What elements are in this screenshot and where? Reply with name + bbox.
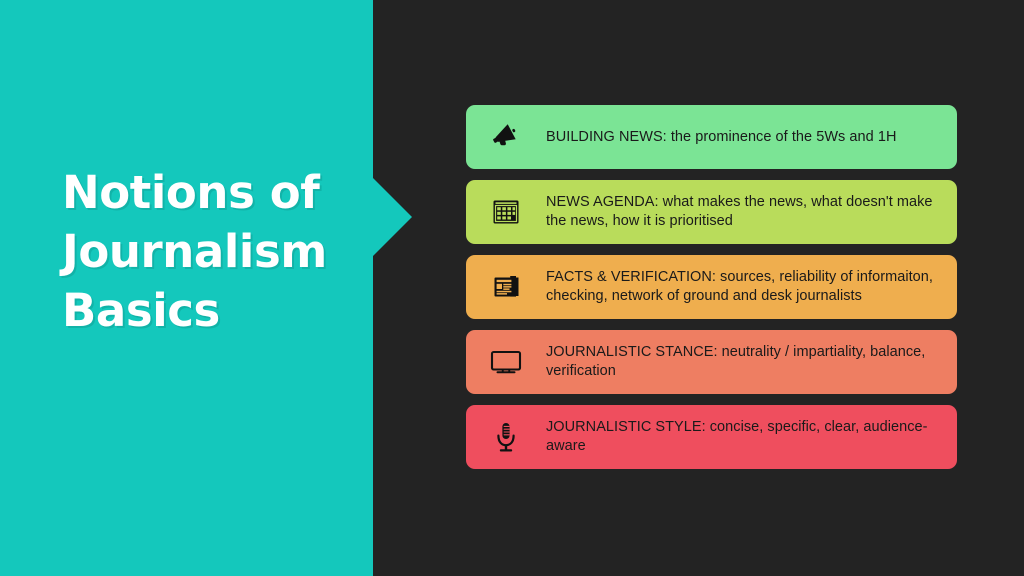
newspaper-icon (484, 267, 528, 307)
topic-card-label: FACTS & VERIFICATION: sources, reliabili… (546, 268, 943, 306)
topic-card-journalistic-stance[interactable]: JOURNALISTIC STANCE: neutrality / impart… (466, 330, 957, 394)
television-icon (484, 342, 528, 382)
topic-card-list: BUILDING NEWS: the prominence of the 5Ws… (466, 105, 957, 469)
page-title: Notions of Journalism Basics (62, 163, 362, 340)
calendar-icon (484, 192, 528, 232)
topic-card-news-agenda[interactable]: NEWS AGENDA: what makes the news, what d… (466, 180, 957, 244)
topic-card-label: NEWS AGENDA: what makes the news, what d… (546, 193, 943, 231)
microphone-icon (484, 417, 528, 457)
topic-card-label: JOURNALISTIC STYLE: concise, specific, c… (546, 418, 943, 456)
topic-card-label: JOURNALISTIC STANCE: neutrality / impart… (546, 343, 943, 381)
slide: Notions of Journalism Basics BUILDING NE… (0, 0, 1024, 576)
topic-card-journalistic-style[interactable]: JOURNALISTIC STYLE: concise, specific, c… (466, 405, 957, 469)
topic-card-facts-verification[interactable]: FACTS & VERIFICATION: sources, reliabili… (466, 255, 957, 319)
topic-card-label: BUILDING NEWS: the prominence of the 5Ws… (546, 128, 943, 147)
topic-card-building-news[interactable]: BUILDING NEWS: the prominence of the 5Ws… (466, 105, 957, 169)
megaphone-icon (484, 117, 528, 157)
